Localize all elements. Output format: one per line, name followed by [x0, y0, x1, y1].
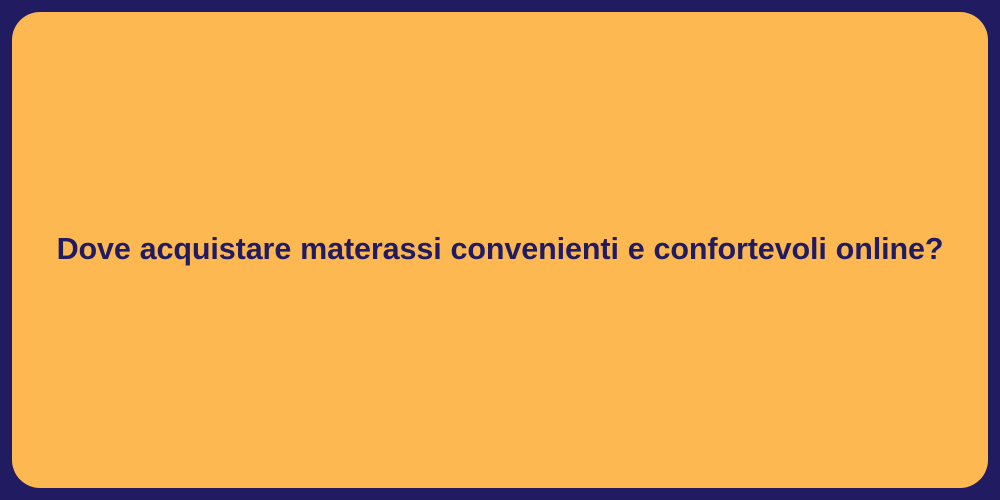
- banner-outer-frame: Dove acquistare materassi convenienti e …: [0, 0, 1000, 500]
- banner-card: Dove acquistare materassi convenienti e …: [12, 12, 988, 488]
- banner-headline: Dove acquistare materassi convenienti e …: [56, 231, 944, 269]
